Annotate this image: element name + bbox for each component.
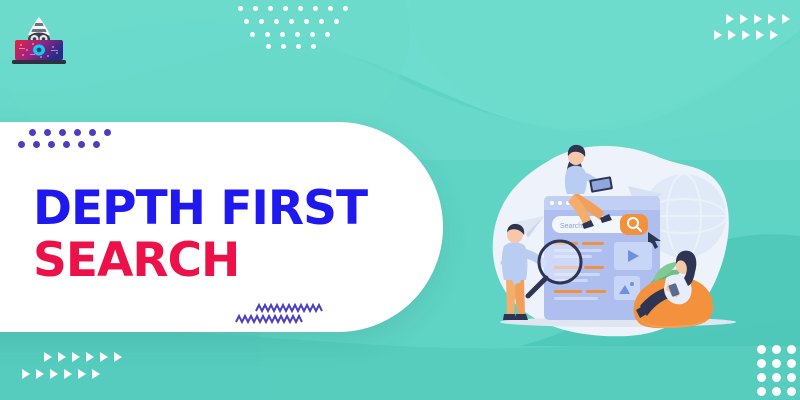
browser-titlebar-fill [544,204,660,210]
banner-canvas: DEPTH FIRST SEARCH [0,0,800,400]
headline-line-1: DEPTH FIRST [33,186,433,232]
brand-logo[interactable] [10,14,68,66]
purple-zigzag [232,298,328,328]
woman-torso [565,166,587,194]
purple-dot-cluster [18,129,104,155]
white-arrow-cluster-top-right [714,14,794,46]
zigzag-line-top [256,305,322,311]
logo-eye-pupil [37,48,42,53]
search-illustration: Search... [488,138,748,346]
white-arrow-cluster-bottom-left [22,352,122,386]
browser-dots [550,201,570,205]
page-title: DEPTH FIRST SEARCH [33,186,433,284]
image-thumbnail-card[interactable] [614,276,640,300]
zigzag-line-bottom [236,316,302,322]
white-dot-triangle [238,6,348,50]
white-dot-grid-bottom-right [757,345,800,397]
man-shoe-near [503,314,516,320]
logo-laptop-base [12,60,66,64]
headline-line-2: SEARCH [33,238,433,284]
man-shoe-far [515,314,528,320]
